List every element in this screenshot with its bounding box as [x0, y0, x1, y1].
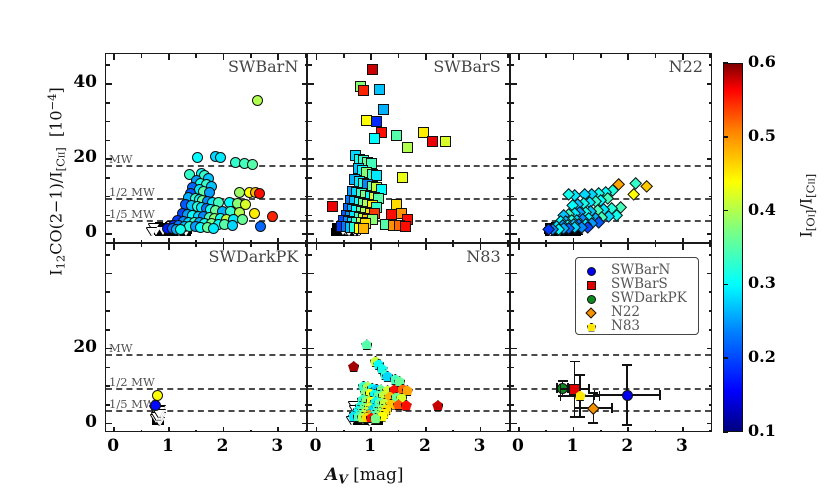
- x-tick-mark: [223, 54, 225, 60]
- data-point: [237, 214, 248, 225]
- reference-line-0: [308, 165, 508, 167]
- colorbar-tick-mark: [723, 210, 728, 212]
- x-tick-mark: [113, 427, 115, 432]
- y-tick-minor: [511, 102, 515, 104]
- y-tick-minor: [511, 196, 515, 198]
- x-tick-mark: [316, 54, 318, 60]
- y-tick-minor: [511, 385, 515, 387]
- legend-marker-pent: [587, 323, 596, 332]
- legend-marker-circle: [587, 295, 596, 304]
- colorbar-tick-label: 0.4: [748, 200, 776, 219]
- y-tick-mark: [707, 158, 712, 160]
- y-tick-minor: [709, 310, 712, 312]
- x-tick-label: 2: [415, 436, 435, 456]
- data-point: [427, 136, 438, 147]
- x-tick-mark: [223, 244, 225, 250]
- x-tick-mark: [370, 244, 372, 250]
- data-point: [348, 361, 359, 372]
- y-tick-minor: [709, 102, 712, 104]
- y-tick-minor: [106, 329, 110, 331]
- panel-n83: N83: [307, 243, 509, 433]
- x-tick-mark: [452, 54, 454, 58]
- y-tick-minor: [709, 291, 712, 293]
- y-tick-label: 0: [71, 222, 97, 242]
- error-bar-cap: [558, 380, 568, 381]
- reference-line-label-1: 1/2 MW: [109, 375, 155, 389]
- x-tick-label: 2: [617, 436, 637, 456]
- y-tick-mark: [106, 233, 112, 235]
- y-tick-label: 20: [71, 337, 97, 357]
- y-tick-minor: [709, 215, 712, 217]
- data-point: [227, 220, 238, 231]
- x-tick-mark: [277, 244, 279, 250]
- y-tick-minor: [106, 102, 110, 104]
- panel-n22: N22: [510, 53, 712, 243]
- x-tick-mark: [316, 244, 318, 250]
- error-bar-cap: [622, 424, 632, 425]
- x-tick-label: 1: [563, 436, 583, 456]
- x-tick-mark: [370, 54, 372, 60]
- x-tick-mark: [627, 244, 629, 250]
- y-tick-minor: [709, 64, 712, 66]
- reference-line-0: [511, 354, 711, 356]
- mean-point-n22: [587, 402, 599, 414]
- colorbar-tick-label: 0.1: [748, 421, 776, 440]
- reference-line-label-2: 1/5 MW: [109, 397, 155, 411]
- data-point: [249, 208, 260, 219]
- x-tick-mark: [507, 244, 509, 248]
- x-tick-mark: [545, 244, 547, 248]
- x-tick-mark: [370, 427, 372, 432]
- y-tick-minor: [308, 385, 312, 387]
- upper-limit-marker: [147, 228, 157, 236]
- x-tick-mark: [425, 427, 427, 432]
- y-tick-minor: [106, 140, 110, 142]
- y-tick-mark: [511, 273, 517, 275]
- x-tick-mark: [573, 427, 575, 432]
- x-tick-label: 3: [672, 436, 692, 456]
- x-axis-label-unit: [mag]: [348, 465, 404, 485]
- x-tick-mark: [168, 244, 170, 250]
- panel-title-swbarn: SWBarN: [228, 57, 298, 76]
- x-tick-mark: [627, 427, 629, 432]
- y-tick-minor: [106, 177, 110, 179]
- legend-marker-square: [587, 281, 596, 290]
- x-tick-mark: [480, 427, 482, 432]
- y-tick-minor: [709, 177, 712, 179]
- y-tick-minor: [709, 254, 712, 256]
- x-tick-mark: [305, 244, 307, 248]
- x-tick-mark: [223, 427, 225, 432]
- error-bar-cap: [570, 361, 580, 362]
- y-tick-minor: [511, 215, 515, 217]
- y-tick-minor: [511, 329, 515, 331]
- y-tick-mark: [707, 83, 712, 85]
- y-tick-minor: [106, 310, 110, 312]
- data-point: [192, 152, 203, 163]
- x-tick-mark: [398, 54, 400, 58]
- reference-line-0: [106, 354, 306, 356]
- data-point: [391, 130, 402, 141]
- data-point: [215, 152, 226, 163]
- x-tick-mark: [682, 427, 684, 432]
- data-point: [361, 339, 372, 350]
- x-tick-mark: [573, 244, 575, 250]
- data-point: [397, 172, 408, 183]
- colorbar-tick-label: 0.3: [748, 273, 776, 292]
- y-tick-minor: [106, 196, 110, 198]
- y-tick-minor: [511, 404, 515, 406]
- x-tick-mark: [398, 244, 400, 248]
- data-point: [327, 201, 338, 212]
- x-tick-mark: [195, 244, 197, 248]
- error-bar-cap: [575, 374, 585, 375]
- x-tick-mark: [507, 430, 509, 433]
- x-axis-label-symbol: AV: [325, 465, 348, 485]
- x-tick-mark: [452, 430, 454, 433]
- x-tick-mark: [545, 54, 547, 58]
- y-tick-minor: [511, 291, 515, 293]
- x-tick-mark: [709, 430, 711, 433]
- error-bar-cap: [594, 390, 595, 400]
- colorbar-tick-mark: [723, 284, 728, 286]
- x-tick-mark: [141, 244, 143, 248]
- x-tick-mark: [250, 244, 252, 248]
- x-tick-mark: [425, 244, 427, 250]
- panel-swdarkpk: MW1/2 MW1/5 MWSWDarkPK: [105, 243, 307, 433]
- data-point: [369, 133, 380, 144]
- reference-line-label-1: 1/2 MW: [109, 185, 155, 199]
- error-bar-cap: [588, 422, 598, 423]
- data-point: [640, 180, 653, 193]
- reference-line-1: [308, 198, 508, 200]
- data-point: [402, 142, 413, 153]
- y-tick-minor: [308, 121, 312, 123]
- y-tick-label: 0: [71, 412, 97, 432]
- y-tick-minor: [511, 121, 515, 123]
- y-tick-minor: [308, 177, 312, 179]
- legend-label: N83: [611, 318, 640, 334]
- x-tick-mark: [250, 430, 252, 433]
- colorbar-tick-mark: [723, 136, 728, 138]
- x-tick-mark: [195, 54, 197, 58]
- data-point: [432, 400, 443, 411]
- panel-title-n22: N22: [669, 57, 703, 76]
- x-tick-mark: [305, 430, 307, 433]
- x-tick-mark: [195, 430, 197, 433]
- reference-line-label-0: MW: [109, 152, 133, 166]
- data-point: [358, 85, 369, 96]
- x-tick-label: 2: [213, 436, 233, 456]
- x-tick-mark: [655, 54, 657, 58]
- y-tick-minor: [709, 140, 712, 142]
- y-tick-mark: [308, 233, 314, 235]
- x-tick-mark: [305, 54, 307, 58]
- data-point: [371, 116, 382, 127]
- error-bar-cap: [622, 364, 632, 365]
- x-tick-mark: [398, 430, 400, 433]
- y-tick-minor: [511, 254, 515, 256]
- x-tick-mark: [480, 244, 482, 250]
- y-tick-mark: [106, 158, 112, 160]
- y-tick-mark: [707, 273, 712, 275]
- y-tick-minor: [709, 385, 712, 387]
- x-tick-mark: [452, 244, 454, 248]
- data-point: [252, 95, 263, 106]
- y-tick-mark: [106, 273, 112, 275]
- x-tick-mark: [600, 244, 602, 248]
- x-tick-mark: [480, 54, 482, 60]
- y-tick-minor: [308, 215, 312, 217]
- y-tick-minor: [106, 404, 110, 406]
- y-axis-label: I12CO(2−1)/I[Cii] [10−4]: [45, 21, 68, 341]
- colorbar-tick-label: 0.5: [748, 126, 776, 145]
- data-point: [254, 188, 265, 199]
- panel-swbars: SWBarS: [307, 53, 509, 243]
- colorbar-tick-label: 0.6: [748, 52, 776, 71]
- y-tick-minor: [709, 329, 712, 331]
- x-tick-mark: [277, 54, 279, 60]
- y-tick-label: 40: [71, 72, 97, 92]
- x-tick-mark: [343, 54, 345, 58]
- data-point: [247, 159, 258, 170]
- x-tick-mark: [518, 244, 520, 250]
- x-tick-mark: [545, 430, 547, 433]
- error-bar-cap: [611, 403, 612, 413]
- y-tick-minor: [511, 140, 515, 142]
- y-tick-minor: [308, 329, 312, 331]
- y-tick-minor: [106, 64, 110, 66]
- y-tick-minor: [709, 367, 712, 369]
- y-tick-minor: [308, 196, 312, 198]
- x-tick-mark: [168, 427, 170, 432]
- data-point: [208, 223, 219, 234]
- x-tick-mark: [425, 54, 427, 60]
- y-tick-label: 20: [71, 147, 97, 167]
- x-tick-mark: [655, 430, 657, 433]
- colorbar-tick-mark: [723, 62, 728, 64]
- x-tick-mark: [113, 244, 115, 250]
- data-point: [367, 64, 378, 75]
- y-axis-label-text: I12CO(2−1)/I[Cii] [10−4]: [46, 87, 65, 275]
- reference-line-0: [511, 165, 711, 167]
- y-tick-minor: [106, 367, 110, 369]
- x-tick-label: 0: [103, 436, 123, 456]
- y-tick-minor: [709, 196, 712, 198]
- x-tick-mark: [627, 54, 629, 60]
- y-tick-minor: [308, 404, 312, 406]
- reference-line-0: [106, 165, 306, 167]
- y-tick-mark: [707, 233, 712, 235]
- y-tick-minor: [106, 385, 110, 387]
- reference-line-label-2: 1/5 MW: [109, 207, 155, 221]
- y-tick-mark: [308, 348, 314, 350]
- y-tick-minor: [106, 254, 110, 256]
- y-tick-minor: [308, 291, 312, 293]
- x-tick-mark: [168, 54, 170, 60]
- y-tick-minor: [308, 310, 312, 312]
- reference-line-1: [511, 388, 711, 390]
- colorbar-tick-mark: [723, 357, 728, 359]
- x-tick-label: 0: [508, 436, 528, 456]
- y-tick-minor: [308, 254, 312, 256]
- error-bar-cap: [574, 403, 575, 413]
- y-tick-mark: [308, 158, 314, 160]
- error-bar-cap: [599, 391, 600, 401]
- x-tick-label: 3: [470, 436, 490, 456]
- legend-box: SWBarNSWBarSSWDarkPKN22N83: [575, 257, 699, 335]
- x-tick-mark: [343, 244, 345, 248]
- error-bar-cap: [575, 416, 585, 417]
- mean-point-swbarn: [622, 390, 633, 401]
- data-point: [255, 221, 266, 232]
- legend-marker-circle: [587, 267, 596, 276]
- x-tick-mark: [316, 427, 318, 432]
- y-tick-mark: [308, 423, 314, 425]
- reference-line-label-0: MW: [109, 341, 133, 355]
- x-tick-label: 0: [306, 436, 326, 456]
- x-tick-mark: [573, 54, 575, 60]
- reference-line-0: [308, 354, 508, 356]
- y-tick-mark: [308, 83, 314, 85]
- colorbar-label: I[Oi]/I[Cii]: [796, 106, 817, 306]
- x-tick-label: 1: [360, 436, 380, 456]
- error-bar-cap: [560, 391, 561, 401]
- x-tick-mark: [682, 54, 684, 60]
- x-tick-mark: [600, 430, 602, 433]
- x-tick-mark: [518, 427, 520, 432]
- y-tick-minor: [308, 64, 312, 66]
- colorbar: [723, 63, 743, 432]
- error-bar-cap: [659, 390, 660, 400]
- colorbar-tick-mark: [723, 431, 728, 433]
- x-tick-mark: [655, 244, 657, 248]
- data-point: [374, 84, 385, 95]
- panel-swbarn: MW1/2 MW1/5 MWSWBarN: [105, 53, 307, 243]
- y-tick-mark: [106, 423, 112, 425]
- y-tick-mark: [106, 83, 112, 85]
- y-tick-minor: [511, 64, 515, 66]
- x-tick-mark: [507, 54, 509, 58]
- x-axis-label: AV [mag]: [325, 465, 404, 486]
- y-tick-minor: [308, 102, 312, 104]
- y-tick-mark: [308, 273, 314, 275]
- y-tick-minor: [106, 291, 110, 293]
- y-tick-minor: [106, 215, 110, 217]
- y-tick-mark: [511, 423, 517, 425]
- panel-title-n83: N83: [466, 247, 500, 266]
- y-tick-minor: [709, 121, 712, 123]
- x-tick-label: 3: [267, 436, 287, 456]
- y-tick-mark: [707, 423, 712, 425]
- x-tick-mark: [518, 54, 520, 60]
- x-tick-mark: [682, 244, 684, 250]
- x-tick-mark: [709, 244, 711, 248]
- y-tick-minor: [106, 121, 110, 123]
- y-tick-minor: [511, 367, 515, 369]
- x-tick-mark: [141, 54, 143, 58]
- x-tick-label: 1: [158, 436, 178, 456]
- data-point: [358, 223, 369, 234]
- y-tick-mark: [511, 348, 517, 350]
- x-tick-mark: [141, 430, 143, 433]
- x-tick-mark: [277, 427, 279, 432]
- y-tick-minor: [308, 367, 312, 369]
- data-point: [378, 104, 389, 115]
- data-point: [440, 136, 451, 147]
- y-tick-mark: [511, 158, 517, 160]
- x-tick-mark: [600, 54, 602, 58]
- y-tick-minor: [511, 177, 515, 179]
- y-tick-minor: [308, 140, 312, 142]
- x-tick-mark: [250, 54, 252, 58]
- y-tick-minor: [511, 310, 515, 312]
- y-tick-mark: [106, 348, 112, 350]
- y-tick-mark: [511, 83, 517, 85]
- panel-title-swbars: SWBarS: [433, 57, 500, 76]
- data-point: [400, 221, 411, 232]
- colorbar-tick-label: 0.2: [748, 347, 776, 366]
- y-tick-mark: [707, 348, 712, 350]
- figure-canvas: I12CO(2−1)/I[Cii] [10−4] AV [mag] I[Oi]/…: [0, 0, 830, 498]
- y-tick-minor: [709, 404, 712, 406]
- upper-limit-marker: [154, 410, 164, 418]
- legend-marker-diamond: [585, 307, 596, 318]
- y-tick-mark: [511, 233, 517, 235]
- x-tick-mark: [113, 54, 115, 60]
- x-tick-mark: [709, 54, 711, 58]
- x-tick-mark: [343, 430, 345, 433]
